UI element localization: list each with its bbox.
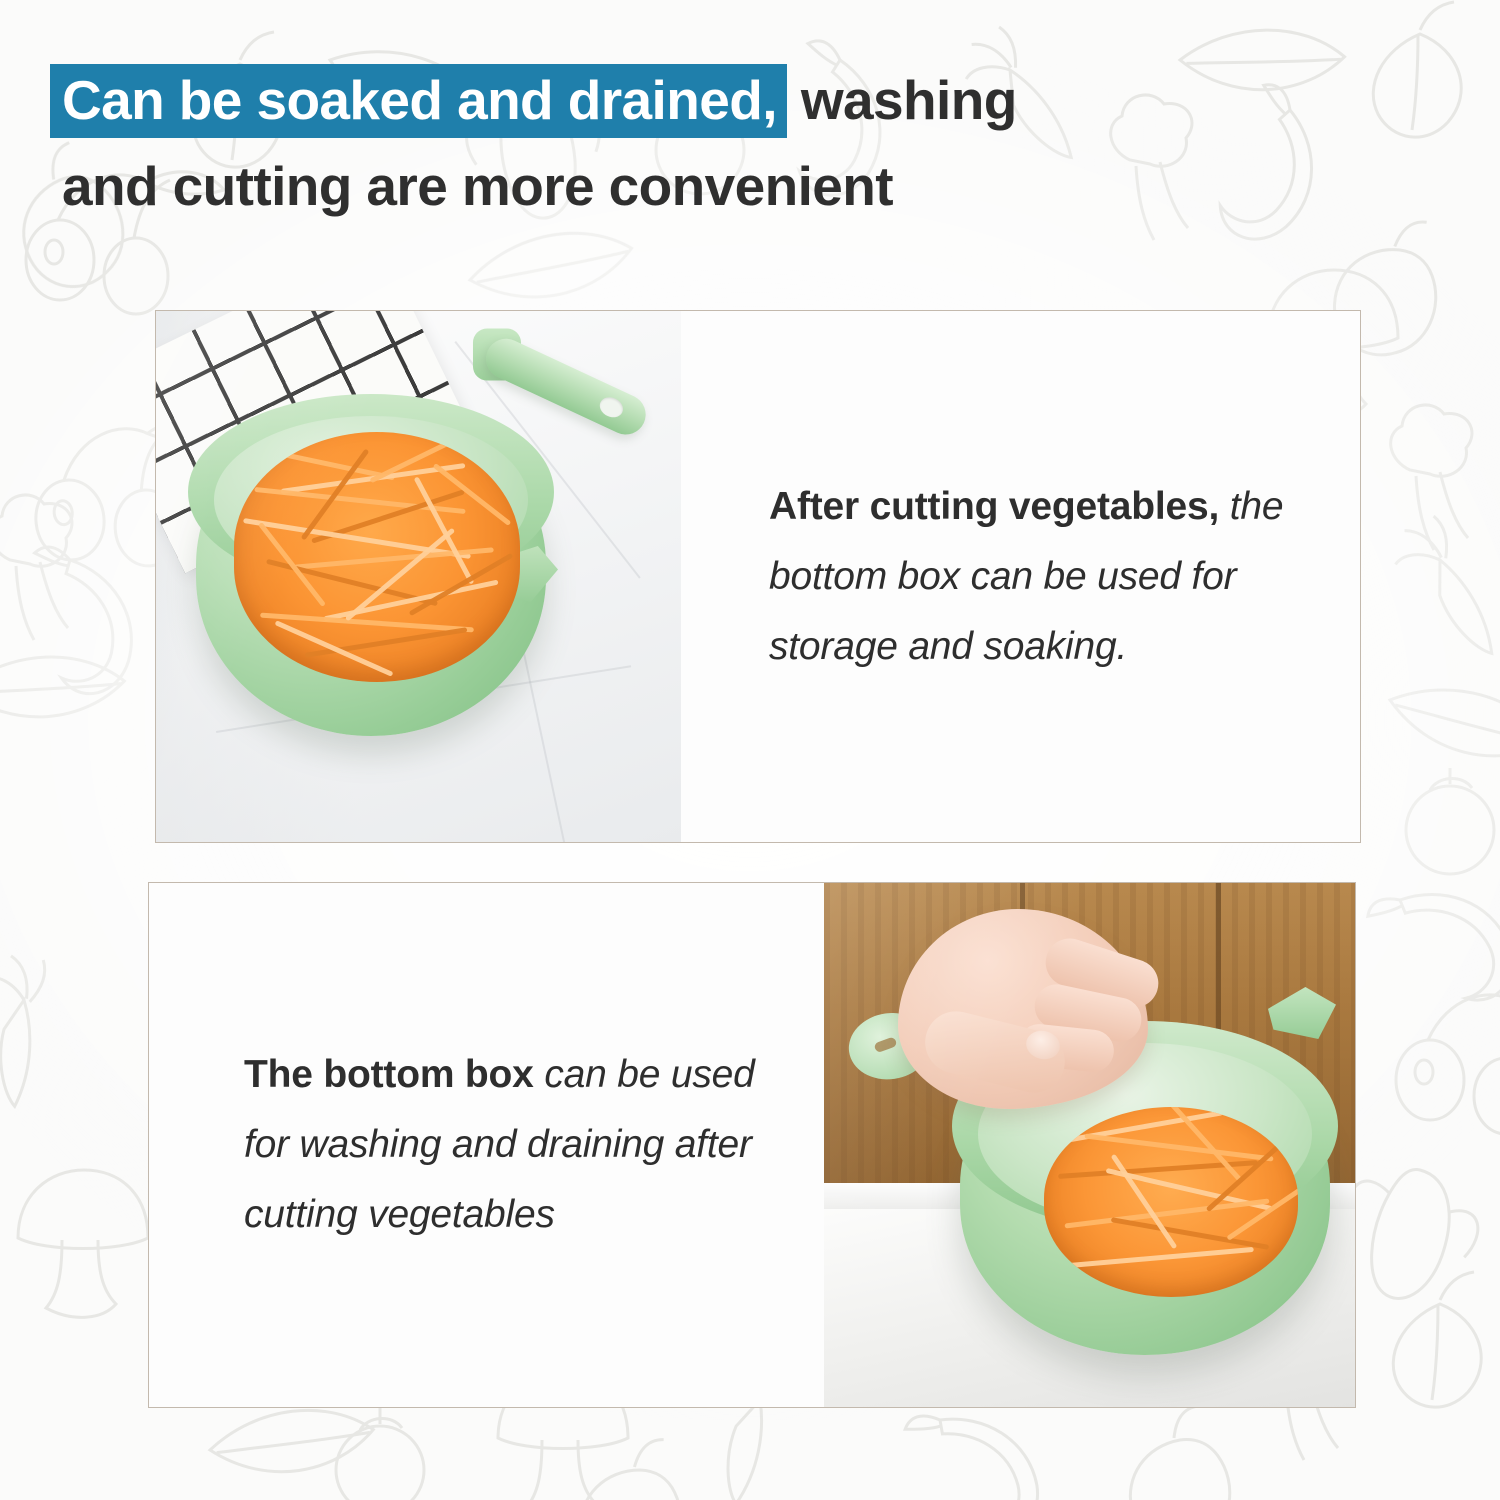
headline-line-1: Can be soaked and drained,washing <box>62 64 1362 136</box>
hand-holding-bowl <box>858 909 1188 1209</box>
card-text-after-cutting: After cutting vegetables, the bottom box… <box>769 472 1329 682</box>
headline-line-2: and cutting are more convenient <box>62 150 1362 222</box>
product-photo-hand-holding-bowl <box>824 883 1355 1407</box>
card-lead-bottom-box: The bottom box <box>244 1053 534 1096</box>
page-headline: Can be soaked and drained,washing and cu… <box>62 64 1362 222</box>
shredded-carrots <box>234 432 520 682</box>
colander-bowl-held <box>916 979 1355 1379</box>
headline-highlight: Can be soaked and drained, <box>50 64 787 138</box>
card-text-bottom-box: The bottom box can be used for washing a… <box>244 1040 804 1250</box>
feature-card-bottom-box: The bottom box can be used for washing a… <box>148 882 1356 1408</box>
feature-card-after-cutting: After cutting vegetables, the bottom box… <box>155 310 1361 843</box>
card-copy-after-cutting: After cutting vegetables, the bottom box… <box>681 311 1360 842</box>
headline-rest: washing <box>787 69 1017 131</box>
card-copy-bottom-box: The bottom box can be used for washing a… <box>149 883 824 1407</box>
card-lead-after-cutting: After cutting vegetables, <box>769 485 1219 528</box>
colander-bowl <box>168 366 648 766</box>
bowl-spout <box>1268 987 1336 1039</box>
product-photo-colander-carrots <box>156 311 681 842</box>
